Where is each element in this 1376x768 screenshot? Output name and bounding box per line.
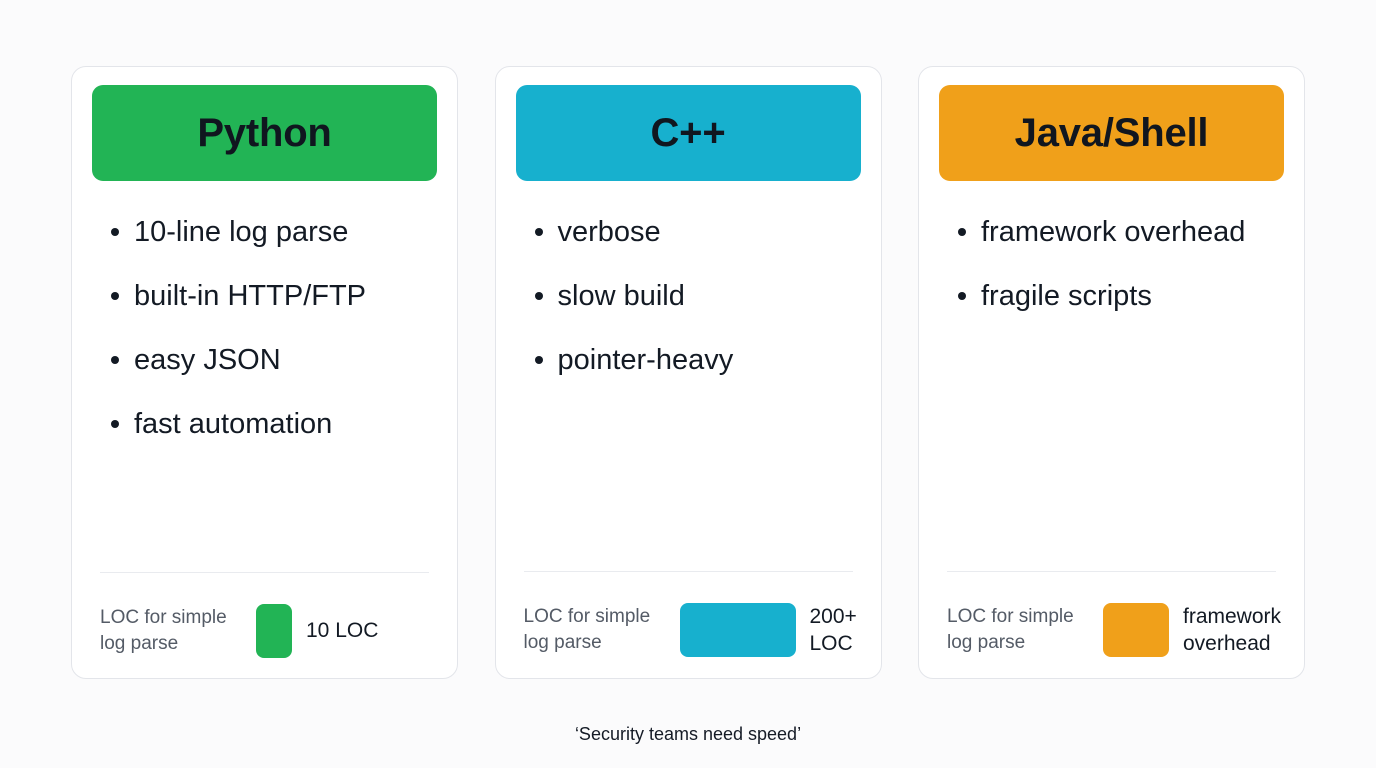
bullet-list-cpp: verbose slow build pointer-heavy	[516, 181, 861, 571]
bullet-dot-icon	[535, 292, 543, 300]
bullet-text: pointer-heavy	[558, 344, 734, 376]
metric-value: framework overhead	[1183, 603, 1281, 658]
bullet-text: slow build	[558, 280, 685, 312]
bullet-dot-icon	[535, 228, 543, 236]
bullet-text: 10-line log parse	[134, 216, 348, 248]
metric-value: 200+ LOC	[810, 603, 857, 658]
card-java-shell[interactable]: Java/Shell framework overhead fragile sc…	[918, 66, 1305, 679]
card-cpp[interactable]: C++ verbose slow build pointer-heavy LOC	[495, 66, 882, 679]
bullet-text: easy JSON	[134, 344, 281, 376]
card-header-java-shell: Java/Shell	[939, 85, 1284, 181]
metric-row-python: LOC for simple log parse 10 LOC	[92, 573, 437, 658]
metric-label: LOC for simple log parse	[100, 605, 250, 657]
list-item: 10-line log parse	[92, 211, 437, 254]
bullet-list-python: 10-line log parse built-in HTTP/FTP easy…	[92, 181, 437, 572]
bullet-dot-icon	[958, 292, 966, 300]
metric-bar	[256, 604, 292, 658]
list-item: verbose	[516, 211, 861, 254]
list-item: fast automation	[92, 403, 437, 446]
bullet-text: verbose	[558, 216, 661, 248]
bullet-text: framework overhead	[981, 216, 1245, 248]
language-cards-row: Python 10-line log parse built-in HTTP/F…	[71, 66, 1305, 679]
card-header-cpp: C++	[516, 85, 861, 181]
bullet-dot-icon	[111, 292, 119, 300]
list-item: slow build	[516, 275, 861, 318]
metric-value: 10 LOC	[306, 617, 429, 645]
bullet-dot-icon	[111, 228, 119, 236]
bullet-dot-icon	[111, 420, 119, 428]
bullet-list-java-shell: framework overhead fragile scripts	[939, 181, 1284, 571]
bullet-text: fast automation	[134, 408, 332, 440]
card-title: Java/Shell	[1015, 113, 1209, 153]
metric-row-java-shell: LOC for simple log parse framework overh…	[939, 572, 1284, 658]
list-item: easy JSON	[92, 339, 437, 382]
bullet-text: built-in HTTP/FTP	[134, 280, 366, 312]
metric-label: LOC for simple log parse	[947, 604, 1097, 656]
bullet-dot-icon	[111, 356, 119, 364]
metric-bar	[1103, 603, 1169, 657]
metric-row-cpp: LOC for simple log parse 200+ LOC	[516, 572, 861, 658]
card-title: C++	[650, 113, 725, 153]
card-python[interactable]: Python 10-line log parse built-in HTTP/F…	[71, 66, 458, 679]
metric-label: LOC for simple log parse	[524, 604, 674, 656]
comparison-slide: Python 10-line log parse built-in HTTP/F…	[0, 0, 1376, 768]
bullet-text: fragile scripts	[981, 280, 1152, 312]
bullet-dot-icon	[958, 228, 966, 236]
metric-bar	[680, 603, 796, 657]
list-item: fragile scripts	[939, 275, 1284, 318]
slide-caption: ‘Security teams need speed’	[0, 724, 1376, 745]
card-header-python: Python	[92, 85, 437, 181]
list-item: pointer-heavy	[516, 339, 861, 382]
bullet-dot-icon	[535, 356, 543, 364]
card-title: Python	[197, 113, 331, 153]
list-item: framework overhead	[939, 211, 1284, 254]
list-item: built-in HTTP/FTP	[92, 275, 437, 318]
